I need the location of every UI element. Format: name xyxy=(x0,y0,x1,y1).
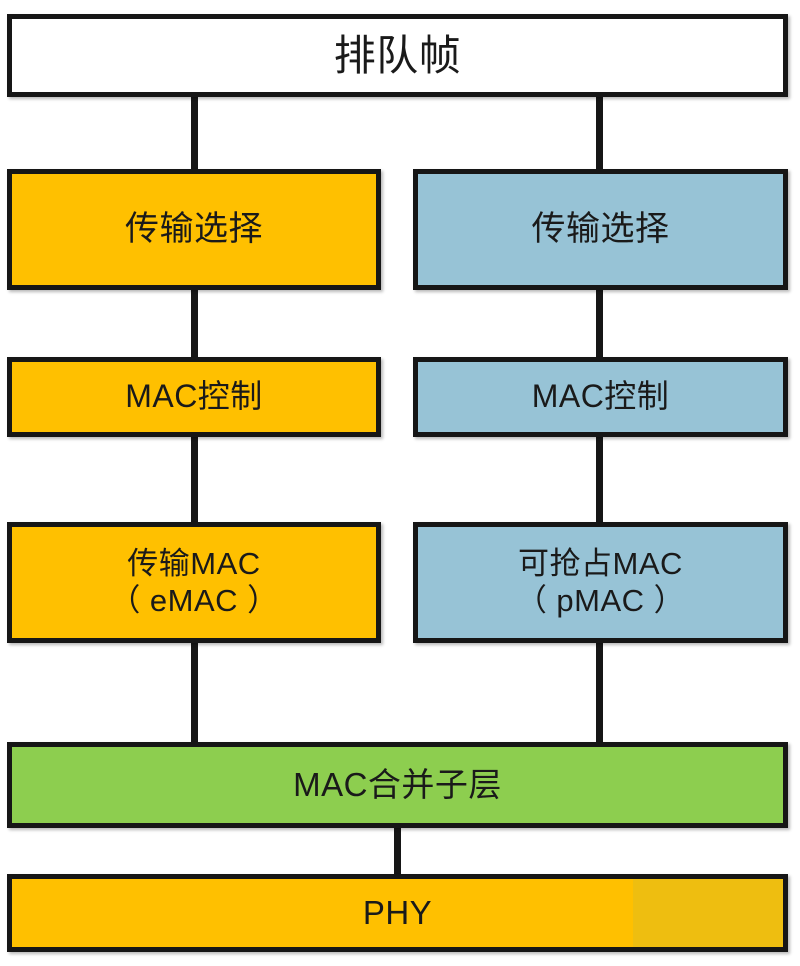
mac-merge-sublayer-label: MAC合并子层 xyxy=(12,766,783,805)
diagram-canvas: 排队帧 传输选择 MAC控制 传输MAC （ eMAC ） 传输选择 MAC控制… xyxy=(0,0,800,966)
connector-merge-sublayer-to-phy xyxy=(394,823,401,880)
phy-label: PHY xyxy=(12,894,783,933)
preemptable-mac-box[interactable]: 可抢占MAC （ pMAC ） xyxy=(413,522,788,643)
mac-control-express-label: MAC控制 xyxy=(12,378,376,416)
connector-pmac-to-merge-sublayer xyxy=(596,638,603,748)
queued-frames-box[interactable]: 排队帧 xyxy=(7,14,788,97)
mac-control-preemptable-label: MAC控制 xyxy=(418,378,783,416)
transmission-selection-express-box[interactable]: 传输选择 xyxy=(7,169,381,290)
express-mac-label: 传输MAC （ eMAC ） xyxy=(12,546,376,619)
phy-box[interactable]: PHY xyxy=(7,874,788,952)
connector-emac-to-merge-sublayer xyxy=(191,638,198,748)
connector-queued-to-preemptable-selection xyxy=(596,92,603,174)
transmission-selection-preemptable-label: 传输选择 xyxy=(418,209,783,249)
connector-express-selection-to-mac-control xyxy=(191,285,198,361)
connector-queued-to-express-selection xyxy=(191,92,198,174)
mac-control-preemptable-box[interactable]: MAC控制 xyxy=(413,357,788,437)
transmission-selection-preemptable-box[interactable]: 传输选择 xyxy=(413,169,788,290)
mac-merge-sublayer-box[interactable]: MAC合并子层 xyxy=(7,742,788,828)
transmission-selection-express-label: 传输选择 xyxy=(12,209,376,249)
connector-preemptable-selection-to-mac-control xyxy=(596,285,603,361)
connector-preemptable-mac-control-to-pmac xyxy=(596,432,603,528)
preemptable-mac-label: 可抢占MAC （ pMAC ） xyxy=(418,546,783,619)
mac-control-express-box[interactable]: MAC控制 xyxy=(7,357,381,437)
connector-express-mac-control-to-emac xyxy=(191,432,198,528)
express-mac-box[interactable]: 传输MAC （ eMAC ） xyxy=(7,522,381,643)
queued-frames-label: 排队帧 xyxy=(12,31,783,81)
